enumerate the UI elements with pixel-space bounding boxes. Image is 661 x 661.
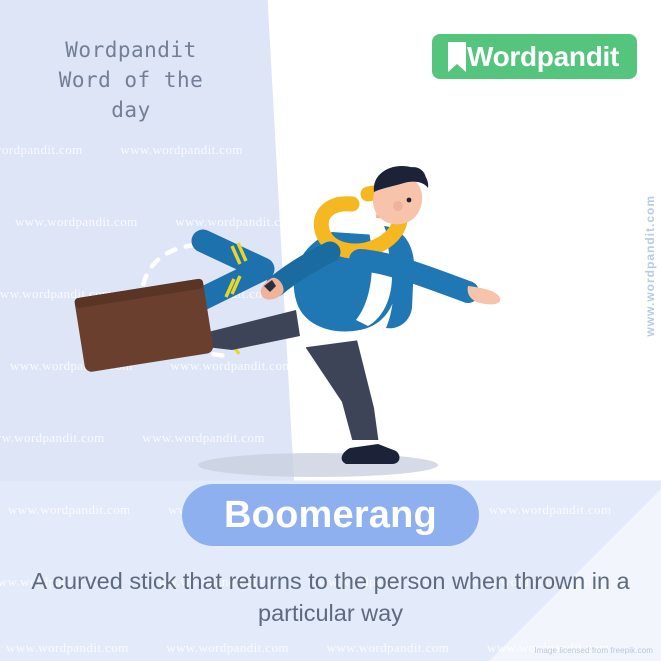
image-credit: Image licensed from freepik.com <box>534 646 653 655</box>
watermark-vertical: www.wordpandit.com <box>643 195 657 337</box>
ground-shadow <box>198 453 438 477</box>
logo-text: Wordpandit <box>467 43 619 71</box>
illustration-businessman-boomerang <box>0 140 661 490</box>
front-shoe <box>342 444 400 464</box>
bookmark-w-icon <box>446 42 468 72</box>
word-of-the-day-card: www.wordpandit.com www.wordpandit.com ww… <box>0 0 661 661</box>
wordpandit-logo[interactable]: Wordpandit <box>432 34 637 79</box>
ear <box>393 201 403 211</box>
word-term: Boomerang <box>224 496 437 534</box>
page-title: Wordpandit Word of the day <box>16 36 246 125</box>
word-pill[interactable]: Boomerang <box>182 484 479 546</box>
eye <box>407 198 412 203</box>
word-definition: A curved stick that returns to the perso… <box>14 566 647 630</box>
back-leg <box>200 310 300 350</box>
